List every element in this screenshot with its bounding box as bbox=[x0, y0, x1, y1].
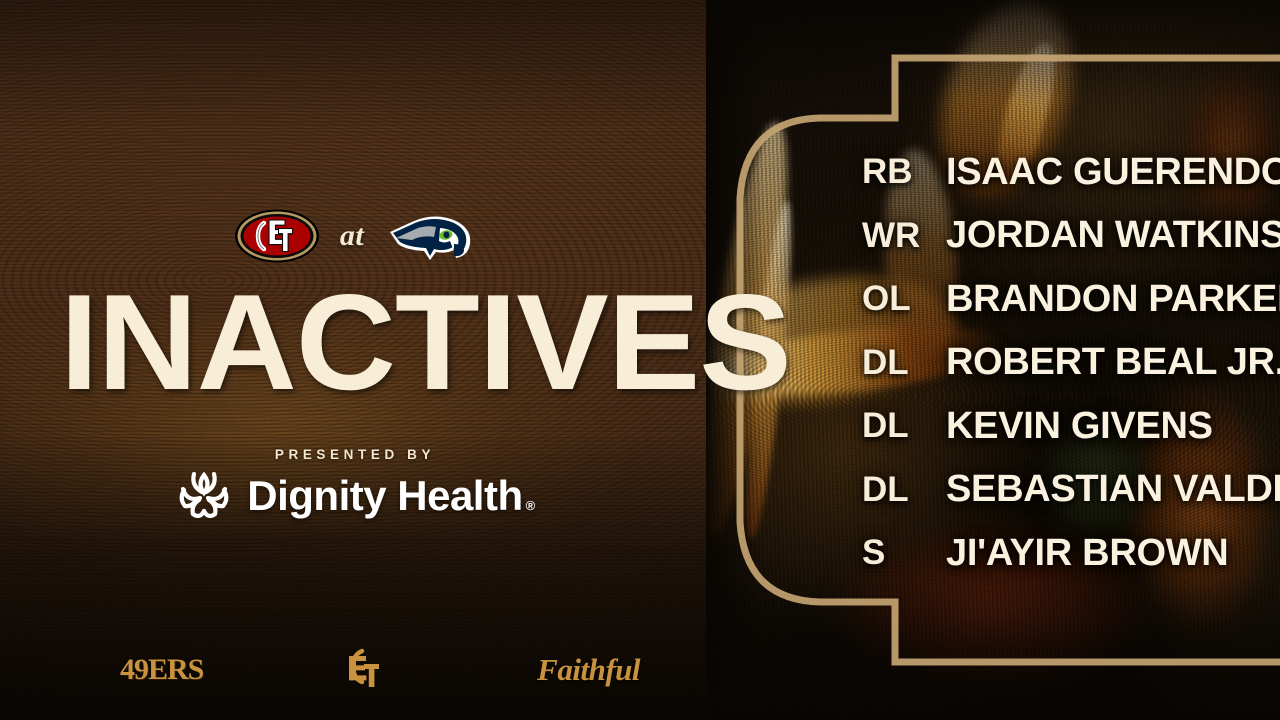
player-name: BRANDON PARKER bbox=[946, 278, 1280, 321]
player-name: KEVIN GIVENS bbox=[946, 405, 1262, 448]
seahawks-logo bbox=[384, 208, 476, 264]
inactives-list: RBISAAC GUERENDOWRJORDAN WATKINSOLBRANDO… bbox=[862, 146, 1262, 576]
player-name: ISAAC GUERENDO bbox=[946, 151, 1280, 194]
inactive-row: RBISAAC GUERENDO bbox=[862, 146, 1262, 198]
player-position: S bbox=[862, 533, 946, 573]
inactive-row: DLSEBASTIAN VALDEZ bbox=[862, 464, 1262, 516]
sf-monogram-icon bbox=[343, 647, 397, 693]
49ers-wordmark: 49ERS bbox=[120, 653, 203, 687]
sponsor-name: Dignity Health ® bbox=[247, 472, 534, 520]
matchup-row: at bbox=[62, 196, 648, 276]
player-position: OL bbox=[862, 279, 946, 319]
inactive-row: DLROBERT BEAL JR. bbox=[862, 337, 1262, 389]
player-name: SEBASTIAN VALDEZ bbox=[946, 468, 1280, 511]
sponsor-lockup: Dignity Health ® bbox=[62, 466, 648, 526]
inactive-row: OLBRANDON PARKER bbox=[862, 273, 1262, 325]
player-position: DL bbox=[862, 470, 946, 510]
player-position: DL bbox=[862, 406, 946, 446]
inactive-row: DLKEVIN GIVENS bbox=[862, 400, 1262, 452]
inactive-row: WRJORDAN WATKINS bbox=[862, 210, 1262, 262]
player-name: JI'AYIR BROWN bbox=[946, 532, 1262, 575]
49ers-logo bbox=[234, 208, 320, 264]
player-position: RB bbox=[862, 152, 946, 192]
sponsor-name-text: Dignity Health bbox=[247, 472, 522, 520]
footer-logo-row: 49ERS Faithful bbox=[120, 645, 640, 695]
dignity-health-flower-icon bbox=[175, 469, 233, 523]
sponsor-registered-mark: ® bbox=[526, 498, 535, 513]
inactive-row: SJI'AYIR BROWN bbox=[862, 527, 1262, 579]
player-name: ROBERT BEAL JR. bbox=[946, 341, 1280, 384]
player-position: DL bbox=[862, 343, 946, 383]
page-title: INACTIVES bbox=[60, 277, 672, 407]
inactives-graphic: at INACTIVES PRESENTED BY bbox=[0, 0, 1280, 720]
matchup-connector: at bbox=[340, 219, 364, 253]
player-position: WR bbox=[862, 216, 946, 256]
presented-by-label: PRESENTED BY bbox=[62, 447, 648, 462]
faithful-script-logo: Faithful bbox=[537, 652, 640, 688]
player-name: JORDAN WATKINS bbox=[946, 214, 1280, 257]
